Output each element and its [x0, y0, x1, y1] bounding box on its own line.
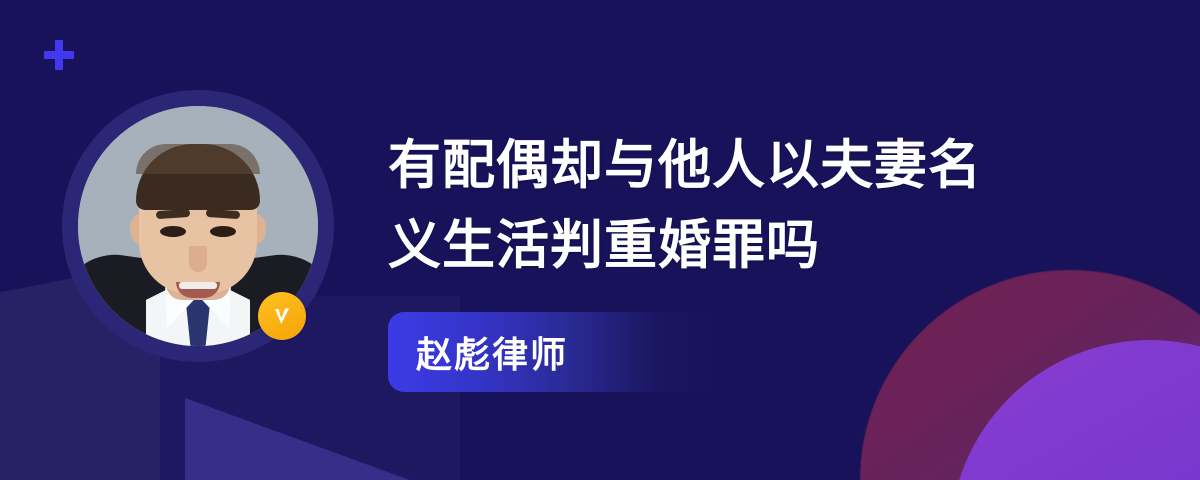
verified-badge-icon [258, 292, 306, 340]
lawyer-name-button[interactable]: 赵彪律师 [388, 312, 718, 392]
plus-icon [44, 40, 74, 70]
content-block: 有配偶却与他人以夫妻名 义生活判重婚罪吗 赵彪律师 [388, 126, 1088, 392]
page-title: 有配偶却与他人以夫妻名 义生活判重婚罪吗 [388, 126, 1088, 286]
lawyer-qa-banner: 有配偶却与他人以夫妻名 义生活判重婚罪吗 赵彪律师 [0, 0, 1200, 480]
